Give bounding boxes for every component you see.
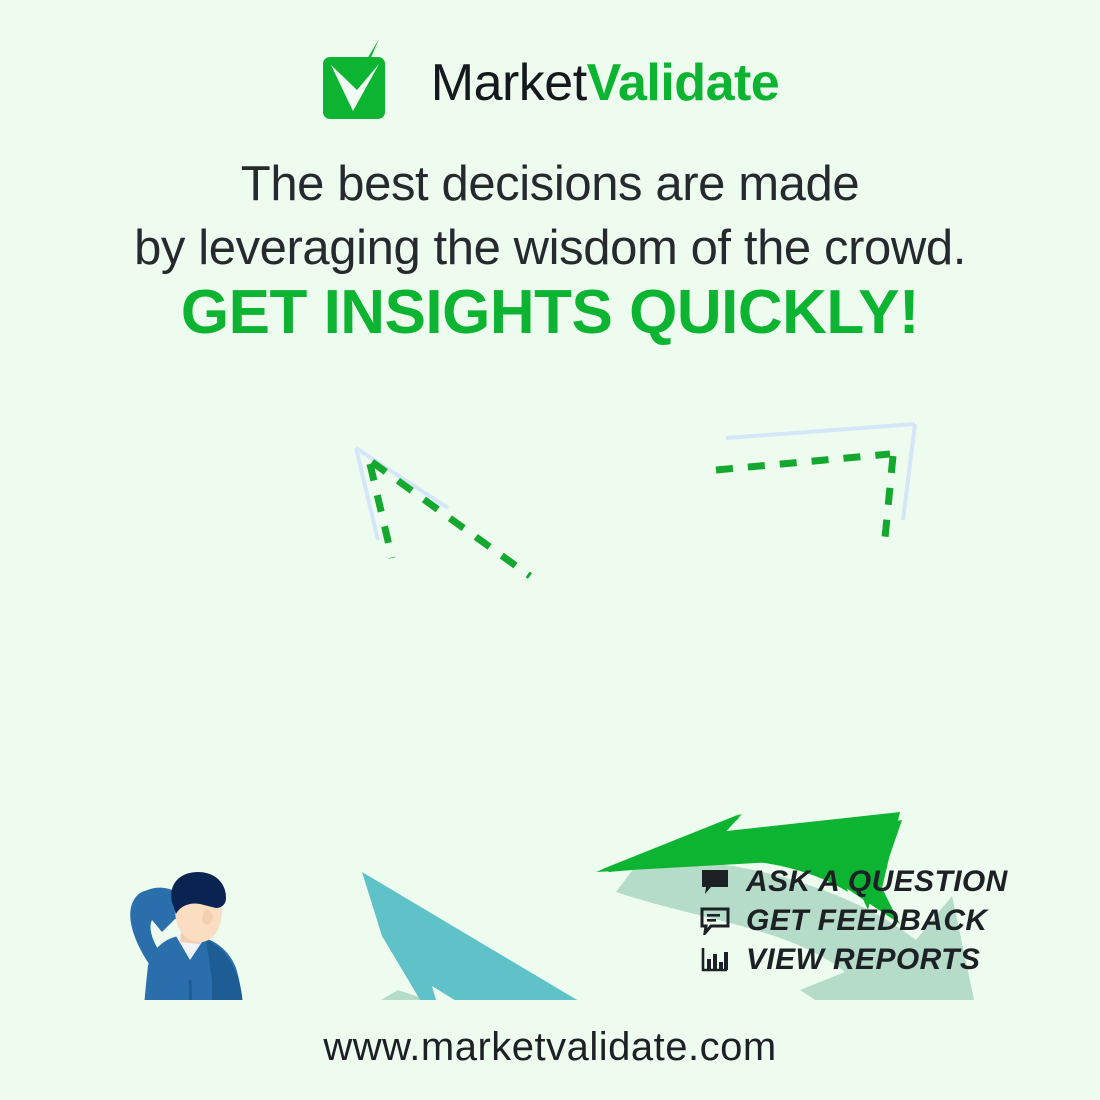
brand-name-part-two: Validate	[587, 54, 780, 112]
chat-lines-icon	[700, 906, 730, 936]
feature-label: VIEW REPORTS	[746, 943, 980, 977]
subheadline: GET INSIGHTS QUICKLY!	[0, 278, 1100, 348]
headline-line-one: The best decisions are made	[0, 152, 1100, 216]
bar-chart-icon	[700, 945, 730, 975]
brand-name-part-one: Market	[431, 54, 587, 112]
speech-bubble-filled-icon	[700, 867, 730, 897]
feature-item-get-feedback[interactable]: GET FEEDBACK	[700, 901, 1030, 940]
footer-website-url[interactable]: www.marketvalidate.com	[0, 1025, 1100, 1070]
headline: The best decisions are made by leveragin…	[0, 152, 1100, 280]
brand-logo[interactable]: MarketValidate	[0, 38, 1100, 128]
brand-wordmark: MarketValidate	[431, 57, 779, 109]
businessman-figure	[87, 872, 283, 1000]
feature-label: ASK A QUESTION	[746, 865, 1008, 899]
feature-item-view-reports[interactable]: VIEW REPORTS	[700, 940, 1030, 979]
feature-label: GET FEEDBACK	[746, 904, 987, 938]
feature-item-ask-a-question[interactable]: ASK A QUESTION	[700, 862, 1030, 901]
poster-canvas: MarketValidate The best decisions are ma…	[0, 0, 1100, 1100]
feature-list: ASK A QUESTION GET FEEDBACK	[700, 862, 1030, 979]
headline-line-two: by leveraging the wisdom of the crowd.	[0, 216, 1100, 280]
green-checkmark-square-icon	[321, 37, 417, 129]
